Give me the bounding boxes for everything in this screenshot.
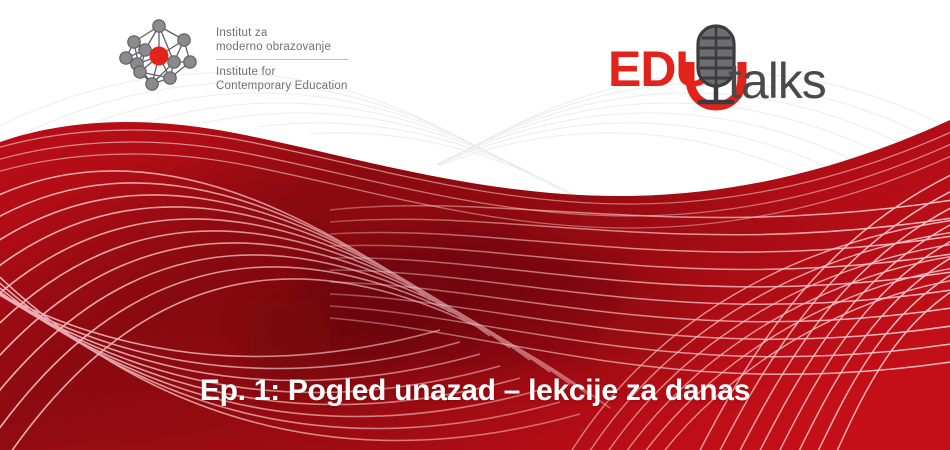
institute-logo-divider	[216, 59, 348, 60]
institute-name-en-line1: Institute for	[216, 65, 348, 79]
episode-title: Ep. 1: Pogled unazad – lekcije za danas	[0, 372, 950, 410]
banner-header: Institut za moderno obrazovanje Institut…	[0, 0, 950, 118]
institute-logo-text: Institut za moderno obrazovanje Institut…	[216, 24, 348, 93]
network-graph-icon	[112, 16, 204, 100]
network-center-node	[150, 47, 169, 66]
institute-logo: Institut za moderno obrazovanje Institut…	[112, 18, 362, 98]
edu-talks-logo: EDU talks	[608, 22, 848, 114]
edu-talks-banner: Institut za moderno obrazovanje Institut…	[0, 0, 950, 450]
talks-wordmark: talks	[728, 56, 826, 106]
institute-name-sr-line2: moderno obrazovanje	[216, 40, 348, 54]
institute-name-sr-line1: Institut za	[216, 26, 348, 40]
institute-name-en-line2: Contemporary Education	[216, 79, 348, 93]
